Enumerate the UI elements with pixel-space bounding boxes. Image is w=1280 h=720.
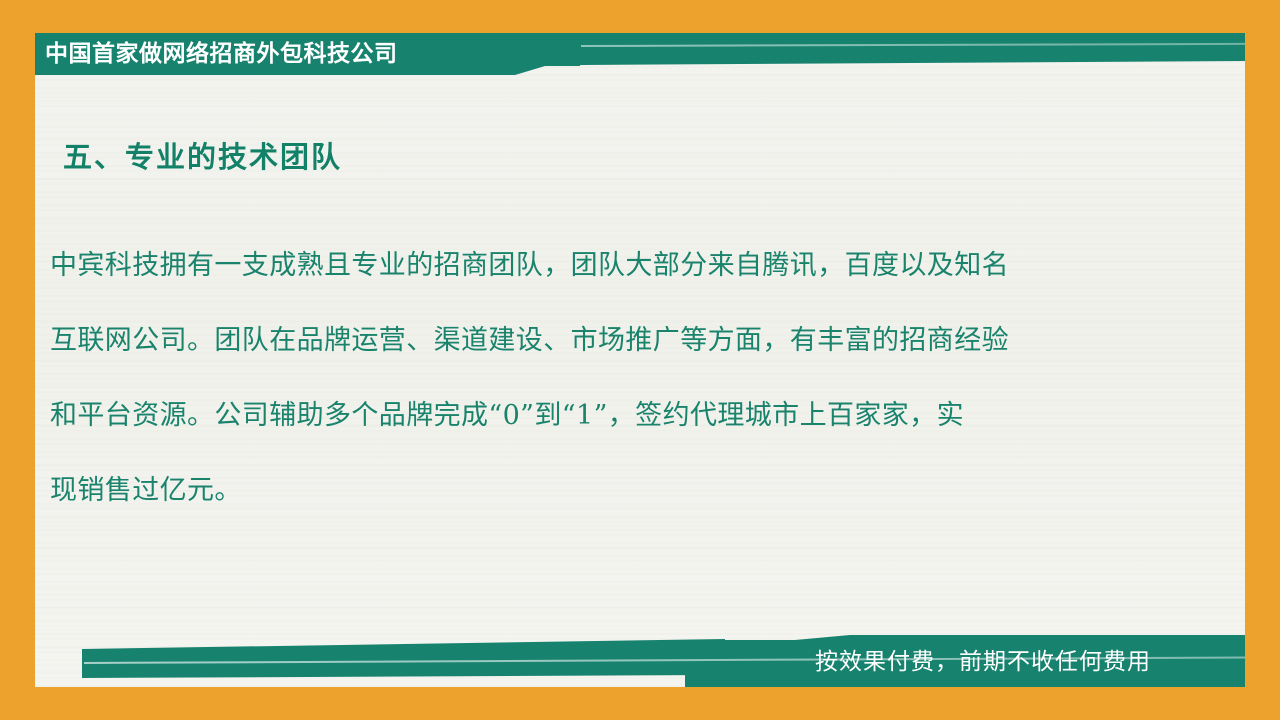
body-line-2: 互联网公司。团队在品牌运营、渠道建设、市场推广等方面，有丰富的招商经验 xyxy=(50,303,1190,378)
section-heading: 五、专业的技术团队 xyxy=(63,134,342,176)
presentation-slide: 中国首家做网络招商外包科技公司 五、专业的技术团队 中宾科技拥有一支成熟且专业的… xyxy=(0,0,1280,720)
header-title: 中国首家做网络招商外包科技公司 xyxy=(45,36,525,70)
footer-tagline: 按效果付费，前期不收任何费用 xyxy=(815,644,1151,678)
body-line-4: 现销售过亿元。 xyxy=(50,453,1190,528)
body-paragraph: 中宾科技拥有一支成熟且专业的招商团队，团队大部分来自腾讯，百度以及知名 互联网公… xyxy=(50,228,1190,528)
body-line-3: 和平台资源。公司辅助多个品牌完成“0”到“1”，签约代理城市上百家家，实 xyxy=(50,378,1190,453)
body-line-1: 中宾科技拥有一支成熟且专业的招商团队，团队大部分来自腾讯，百度以及知名 xyxy=(50,228,1190,303)
